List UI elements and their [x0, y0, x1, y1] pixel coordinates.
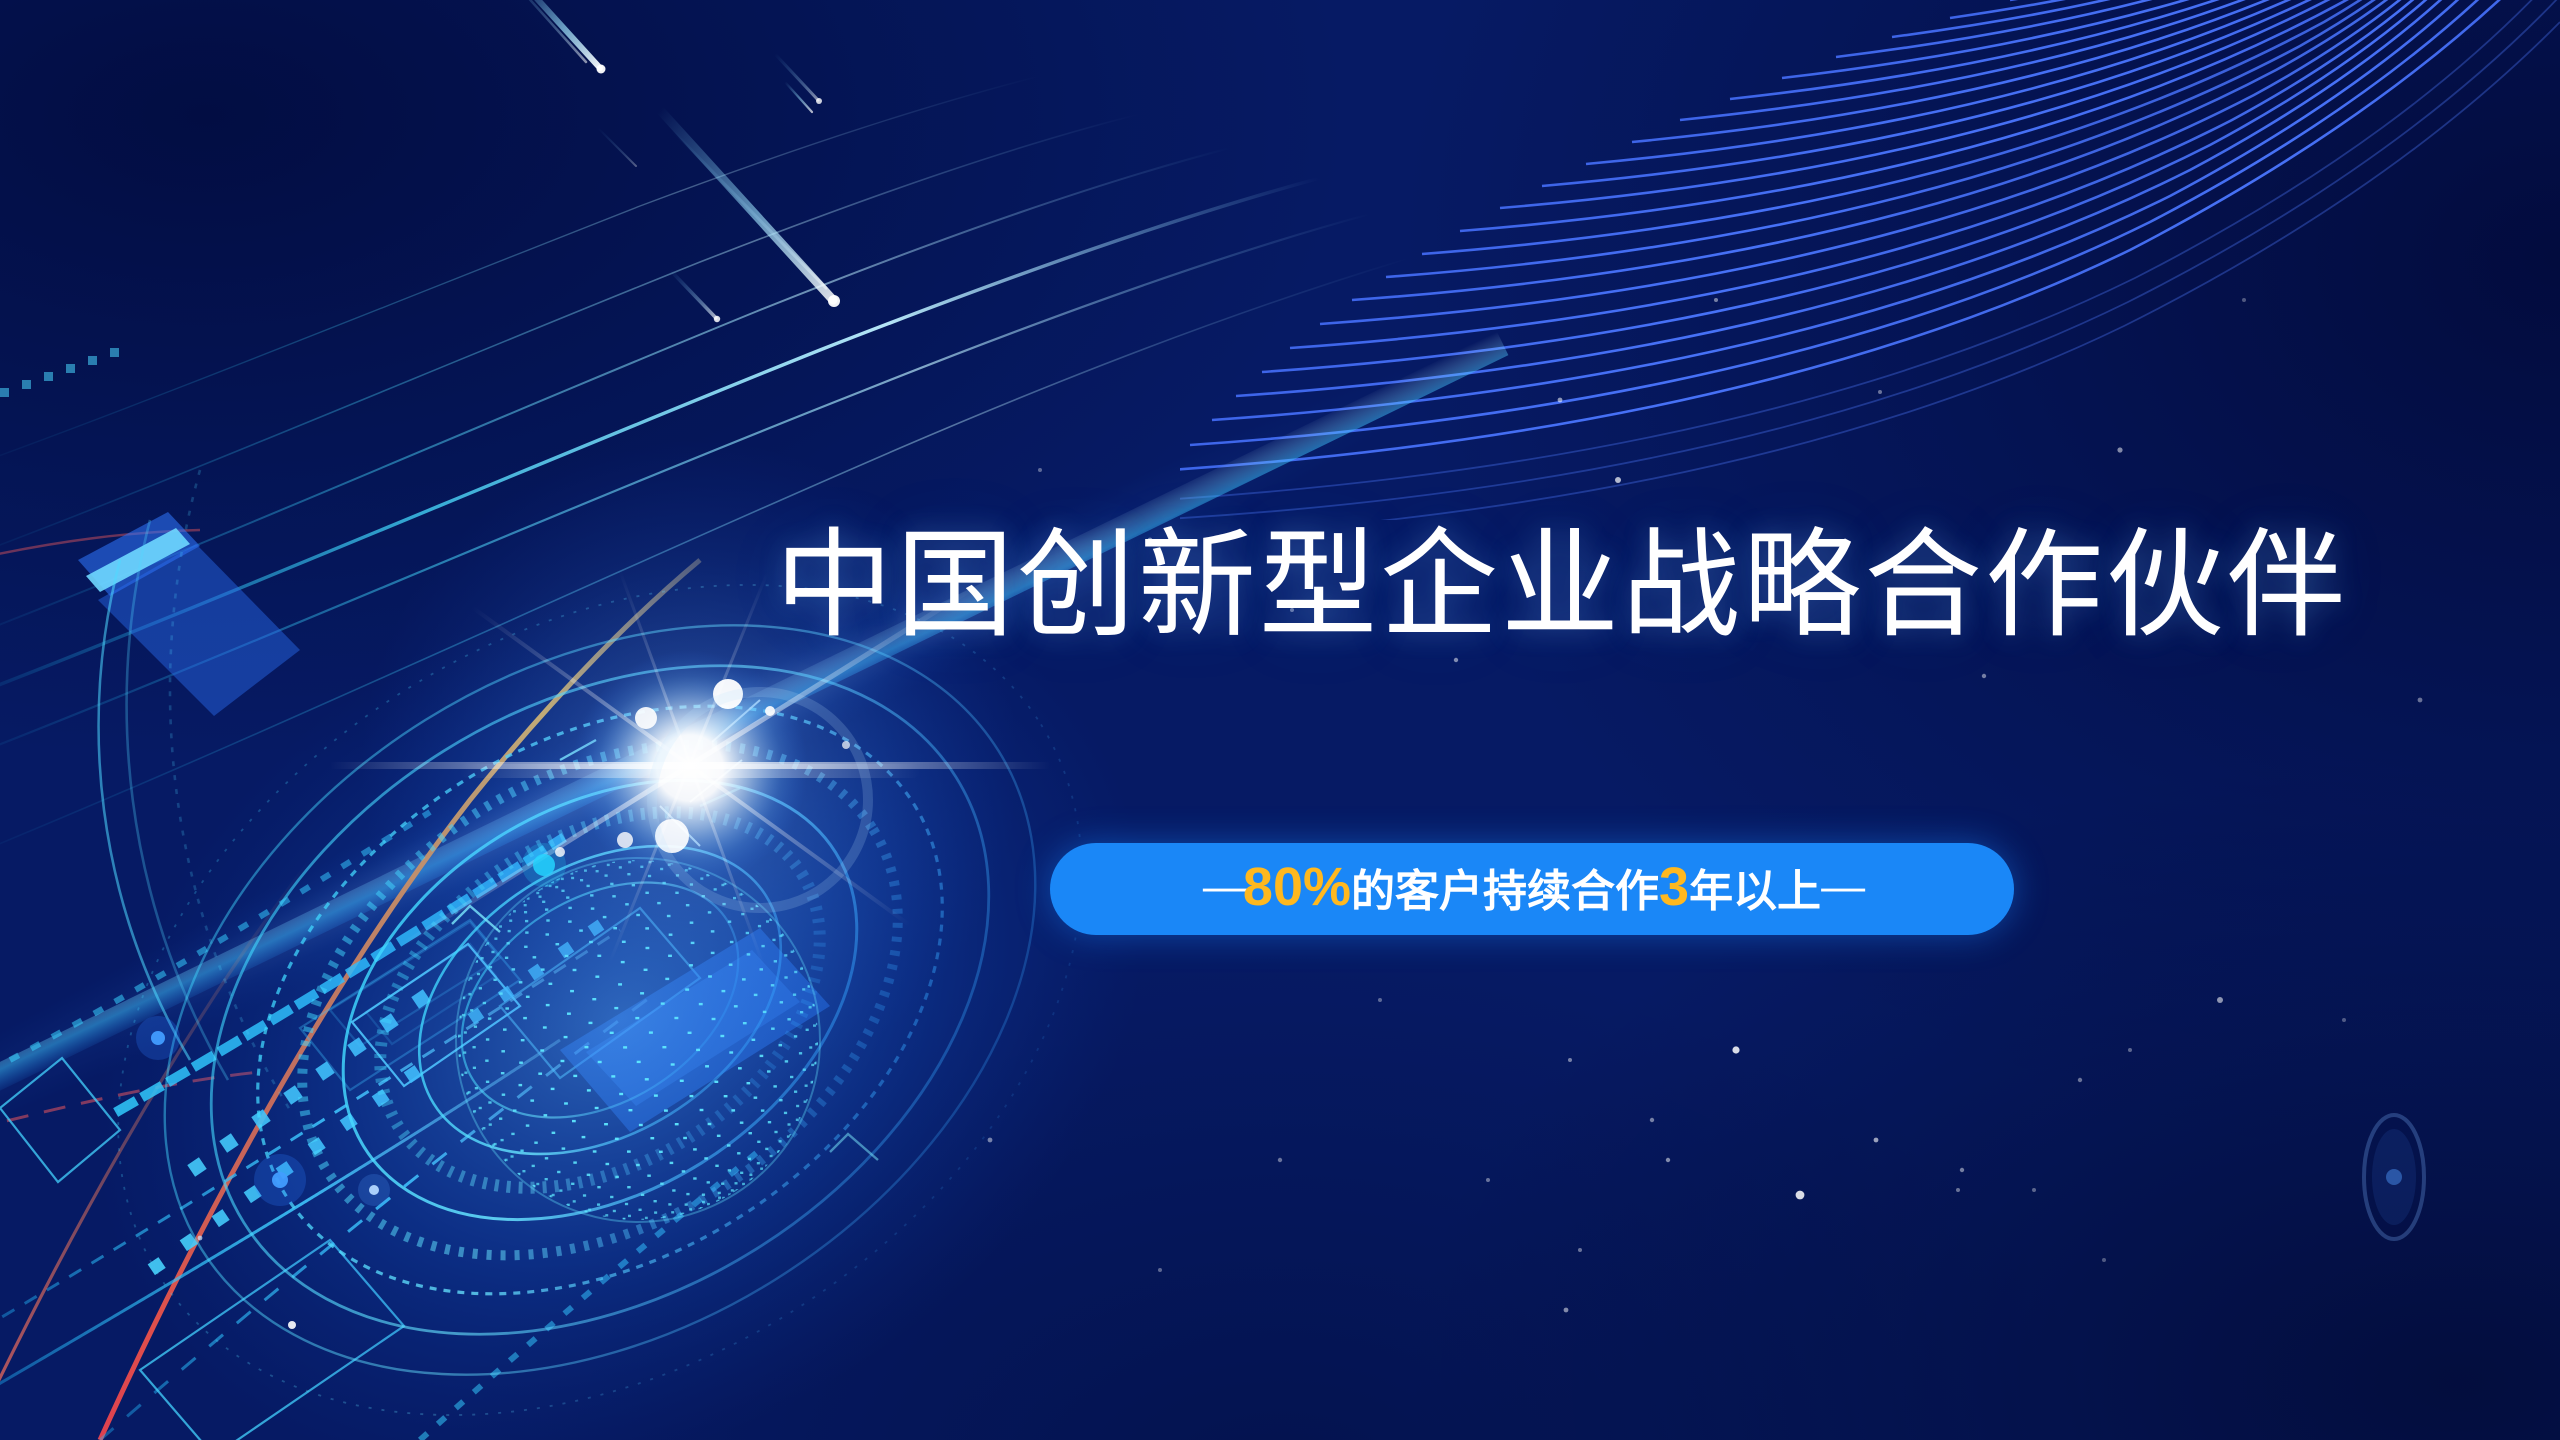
dash-right: —: [1821, 862, 1861, 912]
banner-stage: 中国创新型企业战略合作伙伴 — 80% 的客户持续合作 3 年以上 —: [0, 0, 2560, 1440]
stat-years: 3: [1659, 860, 1689, 914]
stat-percent: 80%: [1243, 860, 1351, 914]
stat-text-tail: 年以上: [1689, 855, 1821, 919]
dash-left: —: [1203, 862, 1243, 912]
page-title: 中国创新型企业战略合作伙伴: [775, 525, 2295, 649]
stat-badge-text: — 80% 的客户持续合作 3 年以上 —: [1203, 855, 1861, 919]
stat-text-mid: 的客户持续合作: [1351, 855, 1659, 919]
stat-badge: — 80% 的客户持续合作 3 年以上 —: [1050, 843, 2014, 935]
background-vignette: [0, 0, 2560, 1440]
